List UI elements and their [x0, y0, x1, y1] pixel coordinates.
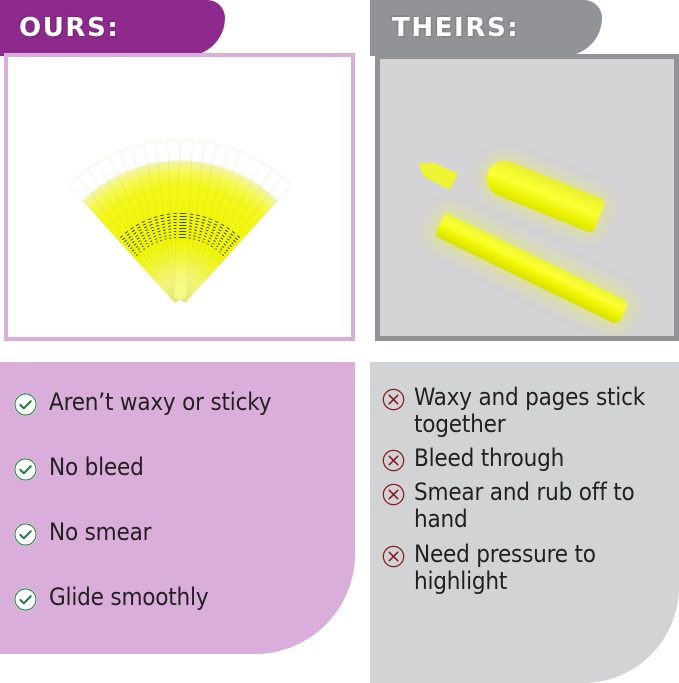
banner-title-ours: OURS: [0, 13, 119, 43]
photo-theirs [375, 54, 679, 341]
feature-label: Smear and rub off to hand [414, 479, 669, 533]
feature-item: Need pressure to highlight [382, 541, 669, 595]
feature-label: Bleed through [414, 445, 564, 472]
banner-title-theirs: THEIRS: [370, 13, 519, 43]
column-theirs: THEIRS: Waxy and pages stick togetherBle… [370, 0, 679, 683]
marker-body-image [434, 212, 629, 325]
banner-ours: OURS: [0, 0, 225, 56]
feature-label: Glide smoothly [49, 584, 208, 611]
check-circle-icon [14, 393, 37, 416]
x-circle-icon [382, 449, 405, 472]
feature-label: No smear [49, 519, 151, 546]
feature-item: Smear and rub off to hand [382, 479, 669, 533]
features-panel-ours: Aren’t waxy or stickyNo bleedNo smearGli… [0, 362, 355, 654]
feature-item: No smear [14, 519, 343, 546]
check-circle-icon [14, 588, 37, 611]
x-circle-icon [382, 545, 405, 568]
feature-item: No bleed [14, 454, 343, 481]
column-ours: OURS: Aren’t waxy or stickyNo bleedNo sm… [0, 0, 355, 683]
feature-list-ours: Aren’t waxy or stickyNo bleedNo smearGli… [0, 362, 355, 611]
photo-theirs-content [380, 59, 674, 336]
feature-item: Bleed through [382, 445, 669, 472]
feature-label: Waxy and pages stick together [414, 384, 669, 438]
feature-item: Waxy and pages stick together [382, 384, 669, 438]
x-circle-icon [382, 388, 405, 411]
marker-cap-image [481, 155, 606, 233]
banner-theirs: THEIRS: [370, 0, 602, 56]
photo-ours-content [8, 57, 351, 337]
check-circle-icon [14, 458, 37, 481]
comparison-graphic: OURS: Aren’t waxy or stickyNo bleedNo sm… [0, 0, 679, 683]
highlighter-fan-image [8, 57, 351, 337]
feature-item: Aren’t waxy or sticky [14, 389, 343, 416]
feature-label: Aren’t waxy or sticky [49, 389, 271, 416]
check-circle-icon [14, 523, 37, 546]
marker-tip-image [414, 155, 459, 191]
feature-label: Need pressure to highlight [414, 541, 669, 595]
feature-label: No bleed [49, 454, 144, 481]
feature-item: Glide smoothly [14, 584, 343, 611]
feature-list-theirs: Waxy and pages stick togetherBleed throu… [370, 362, 679, 595]
x-circle-icon [382, 483, 405, 506]
features-panel-theirs: Waxy and pages stick togetherBleed throu… [370, 362, 679, 683]
photo-ours [4, 53, 355, 341]
